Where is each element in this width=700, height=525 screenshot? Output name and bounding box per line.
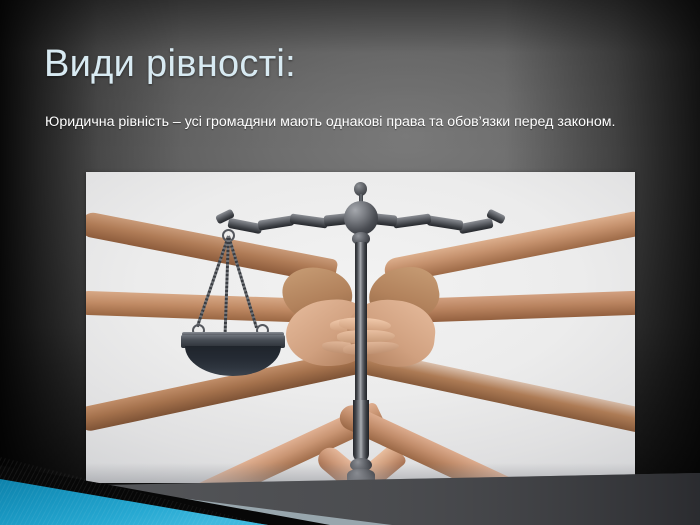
slide-decoration-shapes bbox=[0, 435, 700, 525]
scale-pan-bowl-left bbox=[185, 346, 281, 376]
presentation-slide: Види рівності: Юридична рівність – усі г… bbox=[0, 0, 700, 525]
scale-center-hub bbox=[344, 201, 378, 235]
beam-right-wave-c bbox=[392, 213, 431, 228]
scale-chain-left-inner bbox=[227, 236, 258, 329]
beam-left-wave-c bbox=[289, 213, 328, 228]
slide-title: Види рівності: bbox=[44, 41, 656, 87]
beam-right-wave-a bbox=[458, 218, 493, 234]
body-text-content: Юридична рівність – усі громадяни мають … bbox=[45, 114, 615, 130]
beam-left-wave-b bbox=[257, 215, 294, 231]
beam-right-wave-b bbox=[426, 215, 463, 231]
slide-body-text: Юридична рівність – усі громадяни мають … bbox=[45, 113, 653, 133]
